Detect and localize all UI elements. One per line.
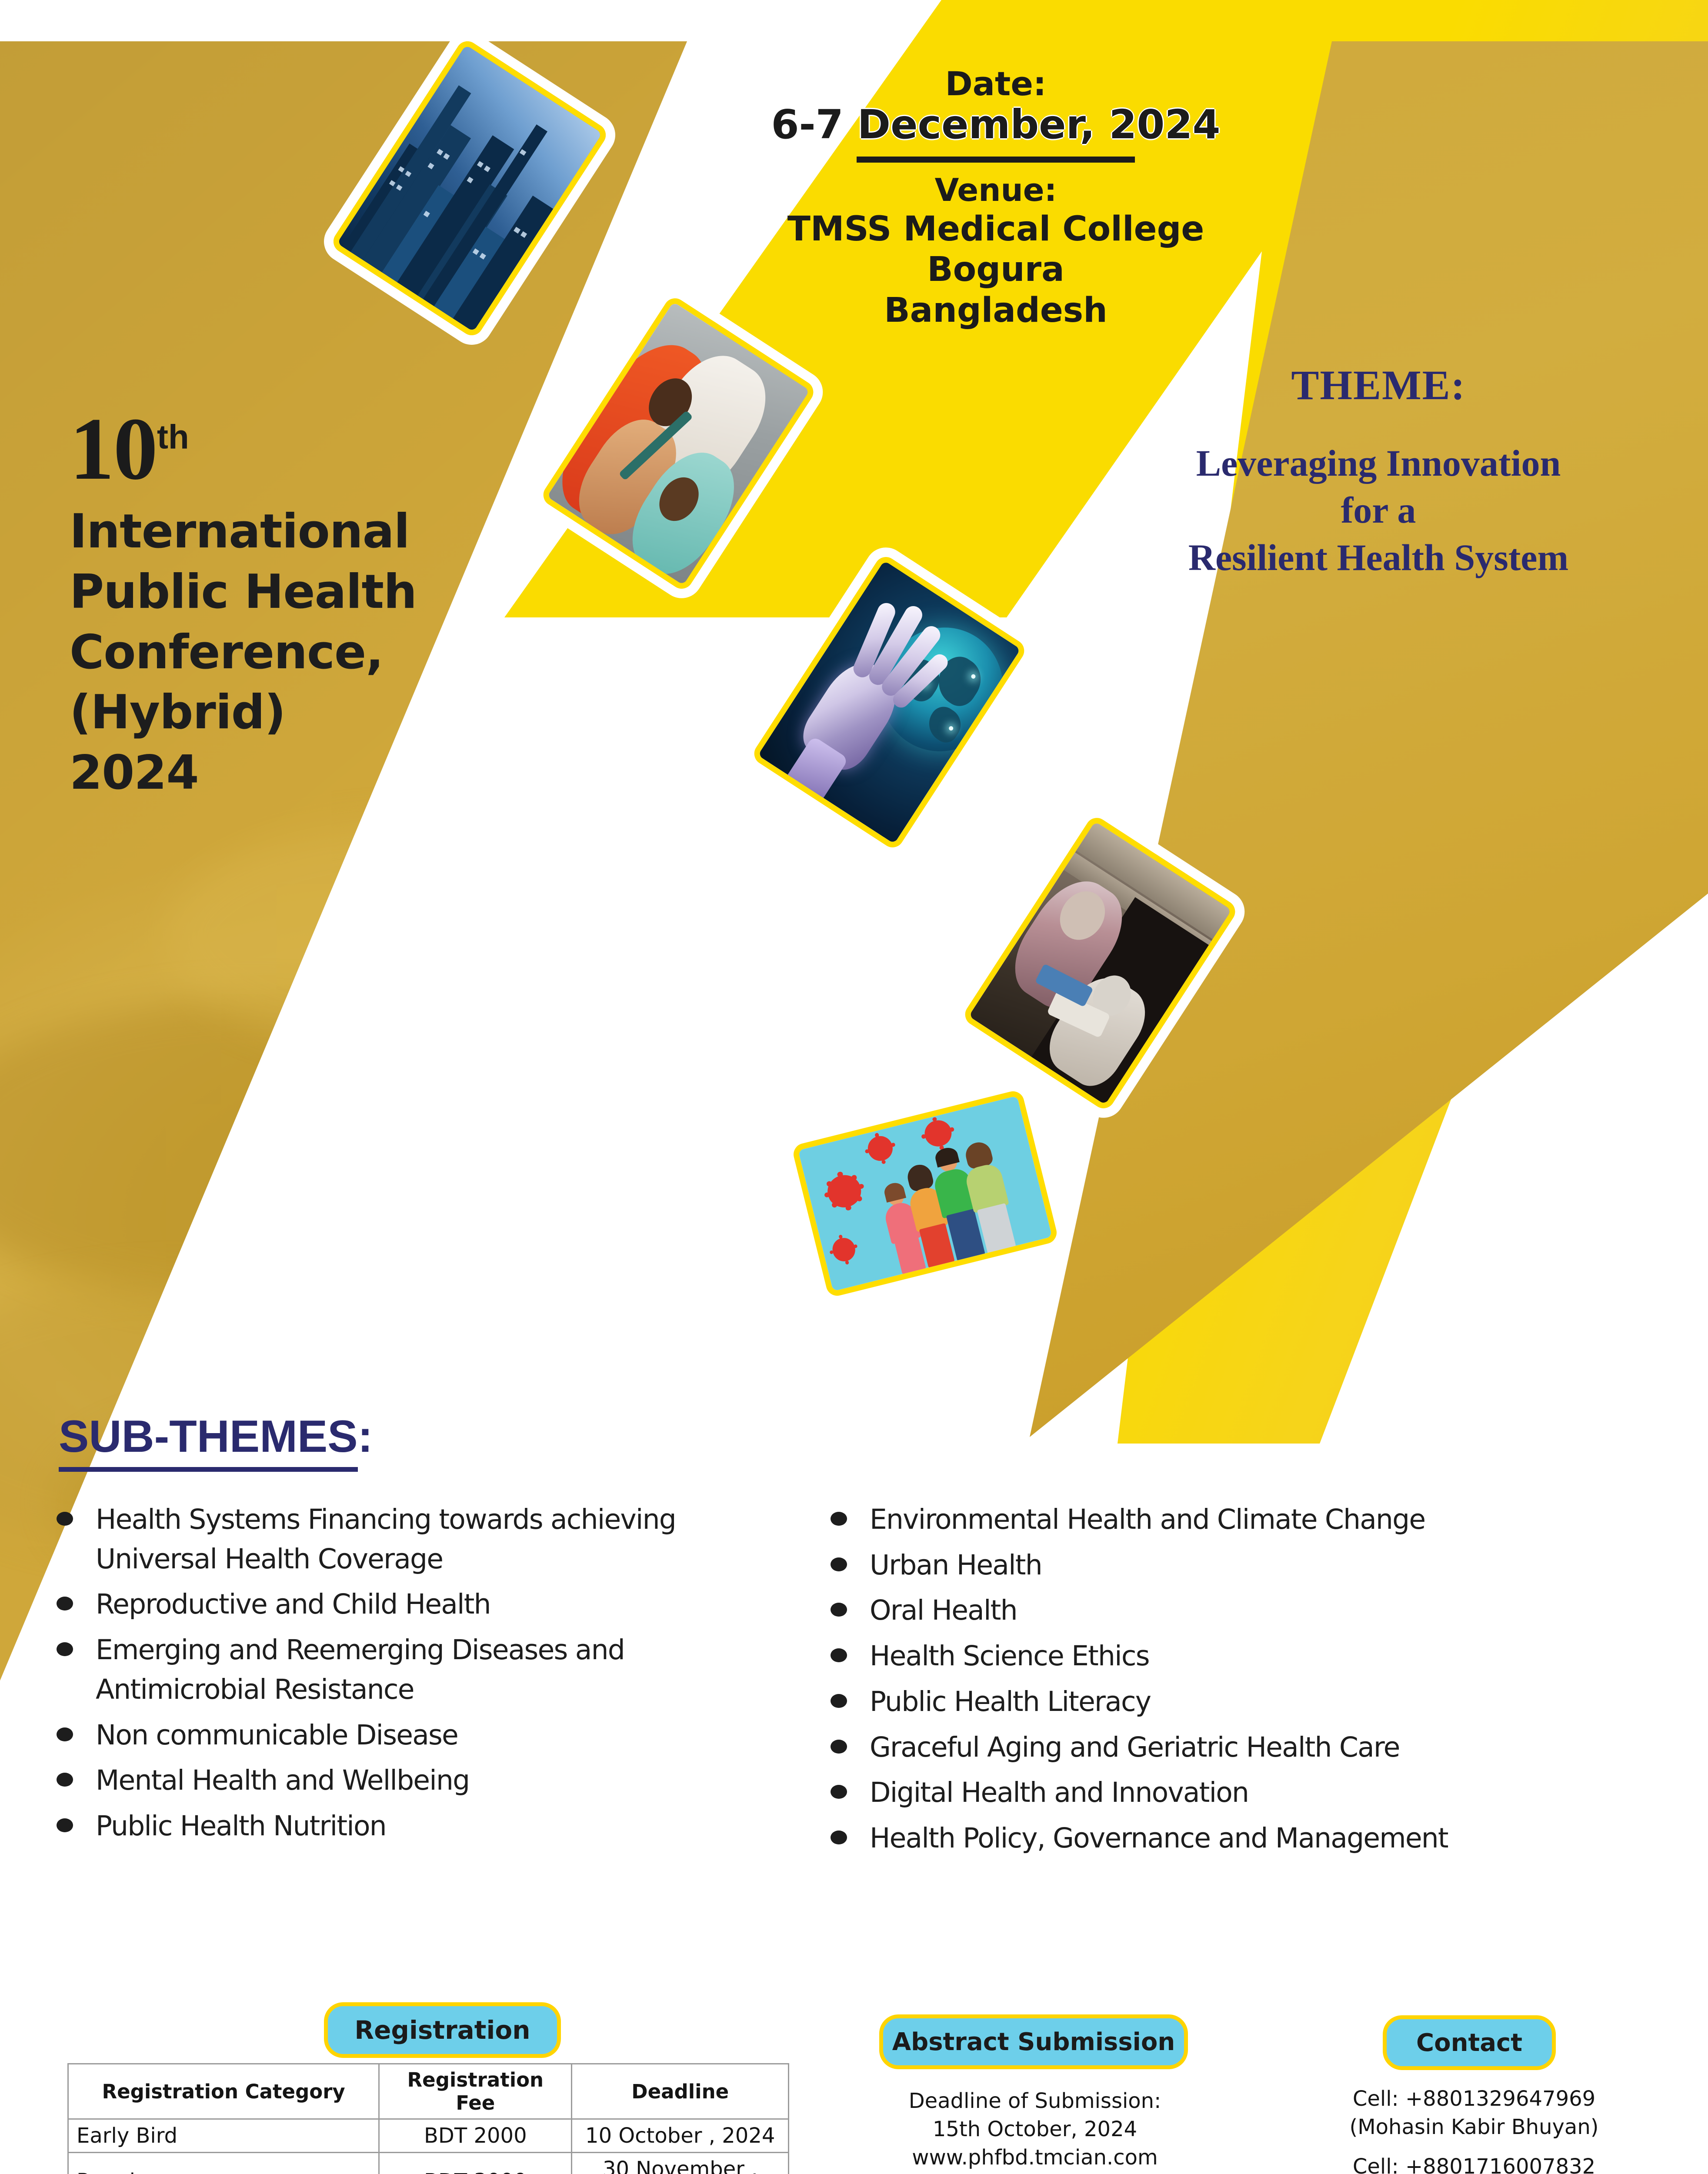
registration-table: Registration Category Registration Fee D…	[67, 2063, 789, 2174]
table-row: Regular BDT 3000 30 November , 2024	[68, 2153, 789, 2174]
list-item: Mental Health and Wellbeing	[57, 1761, 791, 1801]
title-line-3: Conference,	[70, 624, 657, 682]
bullet-icon	[831, 1648, 847, 1662]
list-item: Reproductive and Child Health	[57, 1585, 791, 1624]
subthemes-left-column: Health Systems Financing towards achievi…	[57, 1500, 791, 1864]
contact-phone-2: Cell: +8801716007832	[1309, 2153, 1639, 2174]
abstract-submission-info: Deadline of Submission: 15th October, 20…	[861, 2087, 1209, 2171]
bullet-icon	[57, 1727, 73, 1741]
subthemes-heading-text: SUB-THEMES	[59, 1411, 358, 1472]
bullet-icon	[831, 1557, 847, 1571]
list-item: Health Policy, Governance and Management	[831, 1819, 1626, 1858]
bullet-icon	[831, 1512, 847, 1526]
list-item: Graceful Aging and Geriatric Health Care	[831, 1728, 1626, 1767]
ordinal-number: 10	[70, 400, 157, 498]
bullet-icon	[831, 1785, 847, 1799]
list-item: Public Health Literacy	[831, 1682, 1626, 1722]
list-item: Health Systems Financing towards achievi…	[57, 1500, 791, 1579]
bullet-icon	[57, 1512, 73, 1526]
registration-pill-label: Registration	[354, 2015, 530, 2045]
abstract-deadline-date: 15th October, 2024	[861, 2115, 1209, 2144]
bullet-icon	[57, 1642, 73, 1656]
list-item: Health Science Ethics	[831, 1637, 1626, 1676]
venue-line-1: TMSS Medical College	[739, 209, 1252, 250]
title-line-5: 2024	[70, 744, 657, 802]
bullet-icon	[831, 1603, 847, 1617]
theme-heading: THEME:	[1052, 361, 1705, 409]
page-title: 10th International Public Health Confere…	[70, 404, 657, 805]
contact-info: Cell: +8801329647969 (Mohasin Kabir Bhuy…	[1309, 2085, 1639, 2174]
list-item: Environmental Health and Climate Change	[831, 1500, 1626, 1540]
date-label: Date:	[739, 65, 1252, 102]
date-value: 6-7 December, 2024	[739, 102, 1252, 147]
table-row: Early Bird BDT 2000 10 October , 2024	[68, 2119, 789, 2153]
theme-line-1: Leveraging Innovation	[1052, 440, 1705, 487]
title-line-2: Public Health	[70, 564, 657, 621]
venue-label: Venue:	[739, 171, 1252, 209]
subthemes-heading-colon: :	[358, 1411, 373, 1462]
table-header-row: Registration Category Registration Fee D…	[68, 2064, 789, 2119]
list-item: Non communicable Disease	[57, 1716, 791, 1755]
column-header-fee: Registration Fee	[379, 2064, 572, 2119]
list-item: Public Health Nutrition	[57, 1807, 791, 1846]
subthemes-columns: Health Systems Financing towards achievi…	[57, 1500, 1674, 1864]
theme-line-3: Resilient Health System	[1052, 534, 1705, 581]
bullet-icon	[831, 1740, 847, 1754]
contact-name-1: (Mohasin Kabir Bhuyan)	[1309, 2113, 1639, 2141]
bullet-icon	[57, 1597, 73, 1610]
abstract-deadline-label: Deadline of Submission:	[861, 2087, 1209, 2115]
abstract-website: www.phfbd.tmcian.com	[861, 2144, 1209, 2172]
title-line-4: (Hybrid)	[70, 684, 657, 742]
venue-line-3: Bangladesh	[739, 290, 1252, 331]
column-header-deadline: Deadline	[572, 2064, 789, 2119]
list-item: Digital Health and Innovation	[831, 1773, 1626, 1813]
bullet-icon	[57, 1818, 73, 1832]
venue-line-2: Bogura	[739, 250, 1252, 290]
title-line-1: International	[70, 503, 657, 561]
registration-pill: Registration	[324, 2002, 561, 2058]
subthemes-heading: SUB-THEMES:	[59, 1411, 373, 1463]
bullet-icon	[57, 1773, 73, 1787]
bullet-icon	[831, 1831, 847, 1844]
abstract-pill-label: Abstract Submission	[892, 2028, 1175, 2056]
ordinal-suffix: th	[157, 418, 189, 456]
subthemes-right-column: Environmental Health and Climate Change …	[831, 1500, 1626, 1864]
list-item: Emerging and Reemerging Diseases and Ant…	[57, 1630, 791, 1709]
column-header-category: Registration Category	[68, 2064, 379, 2119]
date-divider	[857, 157, 1135, 163]
theme-block: THEME: Leveraging Innovation for a Resil…	[1052, 361, 1705, 581]
contact-pill: Contact	[1383, 2015, 1556, 2070]
abstract-submission-pill: Abstract Submission	[879, 2014, 1188, 2069]
list-item: Urban Health	[831, 1546, 1626, 1585]
date-venue-block: Date: 6-7 December, 2024 Venue: TMSS Med…	[739, 65, 1252, 331]
list-item: Oral Health	[831, 1591, 1626, 1630]
bullet-icon	[831, 1694, 847, 1708]
contact-phone-1: Cell: +8801329647969	[1309, 2085, 1639, 2113]
theme-line-2: for a	[1052, 487, 1705, 533]
contact-pill-label: Contact	[1416, 2029, 1522, 2057]
